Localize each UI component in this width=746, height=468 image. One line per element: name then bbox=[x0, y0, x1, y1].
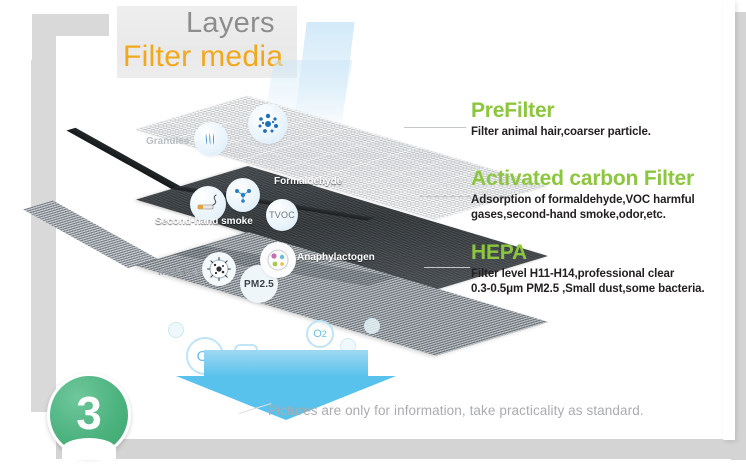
section-hepa: HEPA Filter level H11-H14,professional c… bbox=[471, 242, 705, 296]
formaldehyde-label: Formaldehyde bbox=[274, 176, 342, 187]
section-prefilter: PreFilter Filter animal hair,coarser par… bbox=[471, 100, 651, 140]
pm25-bubble-label: PM2.5 bbox=[244, 279, 274, 290]
tvoc-bubble: TVOC bbox=[266, 199, 298, 231]
frame-bottom-band bbox=[56, 439, 746, 459]
hair-icon bbox=[194, 122, 228, 156]
virus-icon bbox=[202, 252, 236, 286]
leader-line-hepa bbox=[424, 267, 470, 268]
page-title-layers: Layers bbox=[186, 7, 275, 40]
section-activated-carbon: Activated carbon Filter Adsorption of fo… bbox=[471, 168, 695, 222]
frame-corner-top-left bbox=[0, 0, 32, 60]
page-title-filter-media: Filter media bbox=[123, 40, 283, 74]
frame-right-band-inner bbox=[723, 0, 735, 440]
badge-bottom-cutout bbox=[62, 438, 116, 460]
leader-line-prefilter bbox=[404, 127, 466, 128]
step-number-badge: 3 bbox=[47, 373, 131, 457]
disclaimer-caption: Pictures are only for information, take … bbox=[268, 403, 644, 418]
o2-small-subscript: 2 bbox=[322, 329, 327, 339]
step-number-badge-text: 3 bbox=[76, 390, 102, 436]
prefilter-heading: PreFilter bbox=[471, 100, 651, 122]
allergen-icon bbox=[260, 242, 296, 278]
carbon-description-line2: gases,second-hand smoke,odor,etc. bbox=[471, 208, 695, 223]
hepa-description-line1: Filter level H11-H14,professional clear bbox=[471, 267, 705, 282]
leader-line-carbon bbox=[420, 196, 470, 197]
molecule-dot-1 bbox=[168, 322, 184, 338]
hepa-heading: HEPA bbox=[471, 242, 705, 264]
filter-media-infographic: Layers Filter media Granules bbox=[0, 0, 746, 468]
molecule-icon bbox=[226, 178, 260, 212]
anaphylactogen-label: Anaphylactogen bbox=[297, 252, 375, 263]
hepa-description-line2: 0.3-0.5μm PM2.5 ,Small dust,some bacteri… bbox=[471, 282, 705, 297]
molecule-dot-2 bbox=[364, 318, 380, 334]
prefilter-description: Filter animal hair,coarser particle. bbox=[471, 125, 651, 140]
frame-bottom-band-inner bbox=[0, 459, 746, 468]
tvoc-bubble-label: TVOC bbox=[269, 210, 295, 220]
granules-label: Granules bbox=[146, 136, 189, 147]
methanal-label: methanal bbox=[158, 267, 202, 278]
carbon-heading: Activated carbon Filter bbox=[471, 168, 695, 190]
carbon-description-line1: Adsorption of formaldehyde,VOC harmful bbox=[471, 193, 695, 208]
o2-small-label: O bbox=[313, 328, 322, 340]
o2-molecule-small: O2 bbox=[306, 320, 334, 348]
particle-cluster-icon bbox=[248, 104, 288, 144]
second-hand-smoke-label: Second-hand smoke bbox=[155, 216, 253, 227]
airflow-arrow-shaft bbox=[204, 350, 368, 376]
